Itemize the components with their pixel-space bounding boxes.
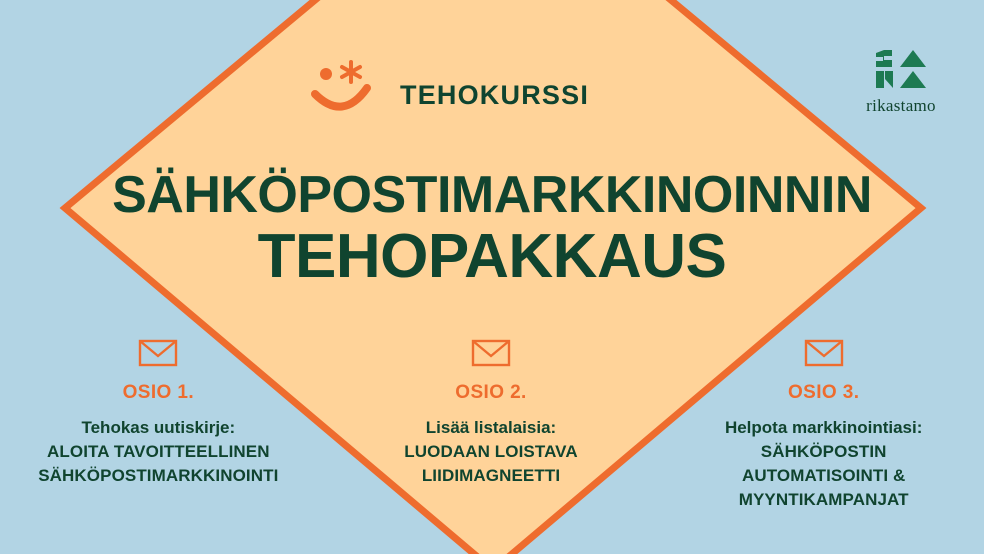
module-osio-3: OSIO 3. Helpota markkinointiasi: SÄHKÖPO…	[657, 338, 984, 554]
envelope-icon	[804, 338, 844, 368]
module-osio-1: OSIO 1. Tehokas uutiskirje: ALOITA TAVOI…	[0, 338, 325, 554]
module-osio-2: OSIO 2. Lisää listalaisia: LUODAAN LOIST…	[325, 338, 658, 554]
module-list: OSIO 1. Tehokas uutiskirje: ALOITA TAVOI…	[0, 338, 984, 554]
module-line-2: LIIDIMAGNEETTI	[331, 464, 652, 488]
module-line-1: ALOITA TAVOITTEELLINEN	[0, 440, 319, 464]
brand-logo: rikastamo	[842, 48, 960, 116]
title-line-2: TEHOPAKKAUS	[0, 224, 984, 291]
title-line-1: SÄHKÖPOSTIMARKKINOINNIN	[0, 168, 984, 222]
module-line-3: MYYNTIKAMPANJAT	[663, 488, 984, 512]
slide-canvas: TEHOKURSSI rikastamo SÄHKÖPOSTIMARKKINOI…	[0, 0, 984, 554]
module-line-1: LUODAAN LOISTAVA	[331, 440, 652, 464]
module-line-1: SÄHKÖPOSTIN	[663, 440, 984, 464]
envelope-icon	[471, 338, 511, 368]
module-subtitle: Lisää listalaisia:	[331, 416, 652, 440]
rikastamo-logo-mark-icon	[874, 48, 928, 90]
smiley-face-icon	[305, 52, 385, 124]
envelope-icon	[138, 338, 178, 368]
logo-wordmark: rikastamo	[842, 96, 960, 116]
module-label: OSIO 3.	[663, 382, 984, 404]
module-line-2: SÄHKÖPOSTIMARKKINOINTI	[0, 464, 319, 488]
module-label: OSIO 2.	[331, 382, 652, 404]
page-title: SÄHKÖPOSTIMARKKINOINNIN TEHOPAKKAUS	[0, 168, 984, 291]
kicker-label: TEHOKURSSI	[400, 80, 589, 111]
module-subtitle: Helpota markkinointiasi:	[663, 416, 984, 440]
module-line-2: AUTOMATISOINTI &	[663, 464, 984, 488]
module-subtitle: Tehokas uutiskirje:	[0, 416, 319, 440]
module-label: OSIO 1.	[0, 382, 319, 404]
header: TEHOKURSSI	[0, 0, 984, 140]
